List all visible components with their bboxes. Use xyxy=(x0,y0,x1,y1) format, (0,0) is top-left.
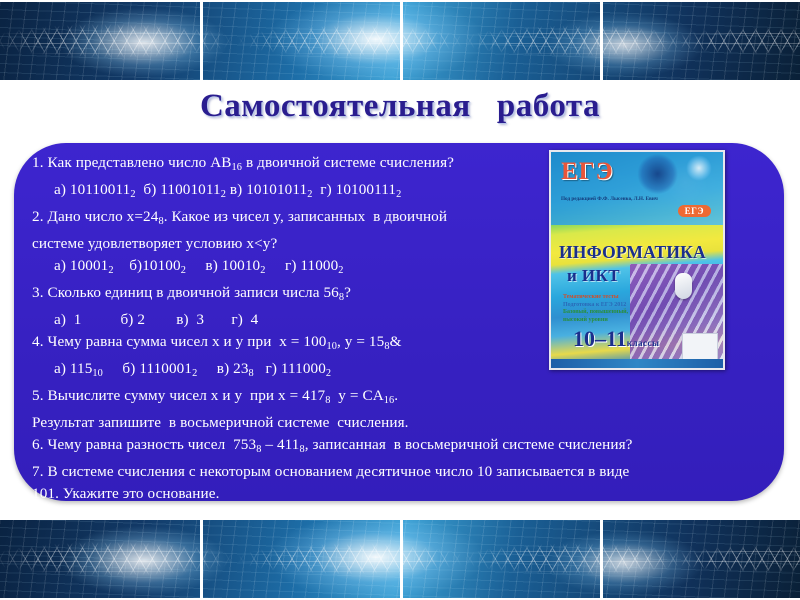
book-cover-exam-badge: ЕГЭ xyxy=(678,205,711,217)
question-line: 6. Чему равна разность чисел 7538 – 4118… xyxy=(32,434,766,461)
question-line: Результат запишите в восьмеричной систем… xyxy=(32,412,766,434)
question-line: 7. В системе счисления с некоторым основ… xyxy=(32,461,766,483)
book-cover-subject-line2: и ИКТ xyxy=(567,266,620,286)
decorative-band-top xyxy=(0,0,800,82)
book-cover-editors: Под редакцией Ф.Ф. Лысенко, Л.Н. Евич xyxy=(561,196,671,202)
band-divider-bottom-1 xyxy=(200,518,203,600)
page-title: Самостоятельная работа xyxy=(0,88,800,125)
book-cover-grade: 10–11классы xyxy=(573,326,660,352)
book-cover-subtitle-line3: Базовый, повышенный, xyxy=(563,309,683,317)
book-cover-subtitle: Тематические тесты Подготовка к ЕГЭ 2012… xyxy=(563,294,683,324)
band-divider-top-2 xyxy=(400,0,403,82)
band-divider-bottom-2 xyxy=(400,518,403,600)
book-cover-exam-label: ЕГЭ xyxy=(561,158,614,186)
band-divider-top-1 xyxy=(200,0,203,82)
book-cover-bottom-strip xyxy=(551,359,723,368)
question-line: 5. Вычислите сумму чисел x и y при x = 4… xyxy=(32,385,766,412)
book-cover-subtitle-line1: Тематические тесты xyxy=(563,294,683,302)
decorative-band-bottom xyxy=(0,518,800,600)
book-cover-subtitle-line4: высокий уровни xyxy=(563,317,683,325)
book-cover-grade-suffix: классы xyxy=(627,338,660,348)
question-line: 101. Укажите это основание. xyxy=(32,483,766,505)
book-cover-subject-line1: ИНФОРМАТИКА xyxy=(559,242,706,263)
book-cover-image: ЕГЭ ЕГЭ Под редакцией Ф.Ф. Лысенко, Л.Н.… xyxy=(549,150,725,370)
content-panel: 1. Как представлено число AB16 в двоично… xyxy=(14,143,784,501)
band-divider-bottom-3 xyxy=(600,518,603,600)
book-cover-grade-number: 10–11 xyxy=(573,326,627,351)
band-divider-top-3 xyxy=(600,0,603,82)
